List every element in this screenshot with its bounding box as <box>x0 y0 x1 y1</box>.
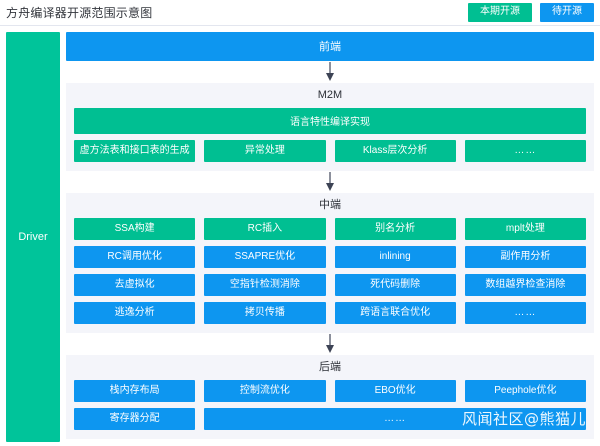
m2m-full-cell[interactable]: 语言特性编译实现 <box>74 108 586 134</box>
m2m-cell[interactable]: 异常处理 <box>204 140 325 162</box>
backend-cell[interactable]: Peephole优化 <box>465 380 586 402</box>
arrow-frontend-to-m2m <box>66 61 594 83</box>
middle-end-cell[interactable]: 拷贝传播 <box>204 302 325 324</box>
m2m-cell[interactable]: Klass层次分析 <box>335 140 456 162</box>
middle-end-cell[interactable]: mplt处理 <box>465 218 586 240</box>
middle-end-cell[interactable]: SSAPRE优化 <box>204 246 325 268</box>
page-title: 方舟编译器开源范围示意图 <box>6 4 152 21</box>
middle-end-cell[interactable]: 副作用分析 <box>465 246 586 268</box>
m2m-cell[interactable]: 虚方法表和接口表的生成 <box>74 140 195 162</box>
legend-group: 本期开源 待开源 <box>468 3 594 22</box>
frontend-label: 前端 <box>319 41 341 53</box>
middle-end-cell[interactable]: 死代码删除 <box>335 274 456 296</box>
pipeline-stack: 前端 M2M 语言特性编译实现 虚方法表和接口表的生成 异常处理 Klass层次… <box>66 32 594 442</box>
middle-end-cell[interactable]: SSA构建 <box>74 218 195 240</box>
middle-end-cell[interactable]: 数组越界检查消除 <box>465 274 586 296</box>
middle-end-cell[interactable]: RC调用优化 <box>74 246 195 268</box>
section-m2m-title: M2M <box>74 90 586 101</box>
middle-end-cell[interactable]: 逃逸分析 <box>74 302 195 324</box>
section-middle-end: 中端 SSA构建 RC插入 别名分析 mplt处理 RC调用优化 SSAPRE优… <box>66 193 594 333</box>
arrow-middle-to-backend <box>66 333 594 355</box>
middle-end-grid: SSA构建 RC插入 别名分析 mplt处理 RC调用优化 SSAPRE优化 i… <box>74 218 586 324</box>
section-middle-end-title: 中端 <box>74 200 586 211</box>
legend-open-source-pending[interactable]: 待开源 <box>540 3 594 22</box>
driver-label: Driver <box>18 231 47 243</box>
frontend-bar: 前端 <box>66 32 594 61</box>
diagram-body: Driver 前端 M2M 语言特性编译实现 虚方法表和接口表的生成 异常处理 … <box>0 26 600 446</box>
middle-end-cell[interactable]: RC插入 <box>204 218 325 240</box>
backend-cell[interactable]: 寄存器分配 <box>74 408 195 430</box>
middle-end-cell[interactable]: 空指针检测消除 <box>204 274 325 296</box>
middle-end-cell-more[interactable]: …… <box>465 302 586 324</box>
backend-cell[interactable]: 控制流优化 <box>204 380 325 402</box>
section-backend-title: 后端 <box>74 362 586 373</box>
backend-cell-more[interactable]: …… <box>204 408 586 430</box>
legend-open-source-current[interactable]: 本期开源 <box>468 3 532 22</box>
section-backend: 后端 栈内存布局 控制流优化 EBO优化 Peephole优化 寄存器分配 ……… <box>66 355 594 439</box>
middle-end-cell[interactable]: inlining <box>335 246 456 268</box>
backend-cell[interactable]: EBO优化 <box>335 380 456 402</box>
m2m-cell-more[interactable]: …… <box>465 140 586 162</box>
driver-column: Driver <box>6 32 60 442</box>
down-arrow-icon <box>325 334 335 354</box>
middle-end-cell[interactable]: 别名分析 <box>335 218 456 240</box>
arrow-m2m-to-middle <box>66 171 594 193</box>
backend-cell[interactable]: 栈内存布局 <box>74 380 195 402</box>
down-arrow-icon <box>325 172 335 192</box>
header-bar: 方舟编译器开源范围示意图 本期开源 待开源 <box>0 0 600 26</box>
backend-grid: 栈内存布局 控制流优化 EBO优化 Peephole优化 寄存器分配 …… <box>74 380 586 430</box>
middle-end-cell[interactable]: 跨语言联合优化 <box>335 302 456 324</box>
m2m-grid: 虚方法表和接口表的生成 异常处理 Klass层次分析 …… <box>74 140 586 162</box>
down-arrow-icon <box>325 62 335 82</box>
section-m2m: M2M 语言特性编译实现 虚方法表和接口表的生成 异常处理 Klass层次分析 … <box>66 83 594 171</box>
middle-end-cell[interactable]: 去虚拟化 <box>74 274 195 296</box>
